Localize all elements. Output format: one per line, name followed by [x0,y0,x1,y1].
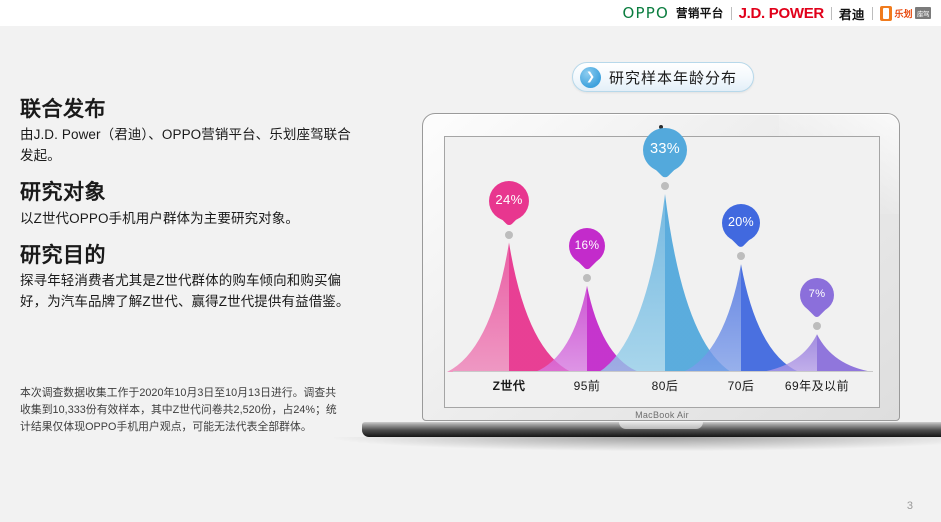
section-body: 探寻年轻消费者尤其是Z世代群体的购车倾向和购买偏好，为汽车品牌了解Z世代、赢得Z… [20,271,360,312]
value-marker-4: 7% [800,278,834,312]
section-research-subject: 研究对象 以Z世代OPPO手机用户群体为主要研究对象。 [20,179,360,229]
value-marker-1: 16% [569,228,605,264]
marker-value: 7% [809,288,826,300]
section-heading-label: 研究样本年龄分布 [609,67,737,88]
jd-power-logo: J.D. POWER [739,6,824,21]
section-body: 由J.D. Power（君迪）、OPPO营销平台、乐划座驾联合发起。 [20,125,360,166]
logo-group: OPPO 营销平台 J.D. POWER 君迪 乐划 座驾 [622,3,931,23]
jundi-label: 君迪 [839,4,865,23]
laptop-screen: Z世代95前80后70后69年及以前 24%16%33%20%7% [444,136,880,408]
laptop-notch [619,422,703,429]
x-axis-label-4: 69年及以前 [762,377,872,394]
page-number: 3 [907,500,913,512]
methodology-footnote: 本次调查数据收集工作于2020年10月3日至10月13日进行。调查共收集到10,… [20,385,342,436]
lezhi-logo: 乐划 座驾 [880,6,931,21]
lezhi-label: 乐划 [894,7,912,20]
marker-bubble: 33% [643,128,687,172]
laptop-shadow [334,437,941,451]
marker-value: 24% [495,192,522,207]
divider-3 [872,7,873,20]
section-title: 研究对象 [20,179,360,206]
marker-anchor-dot [583,274,591,282]
left-text-column: 联合发布 由J.D. Power（君迪）、OPPO营销平台、乐划座驾联合发起。 … [20,96,360,325]
brand-logo-bar: OPPO 营销平台 J.D. POWER 君迪 乐划 座驾 [0,0,941,26]
oppo-logo: OPPO [622,6,669,21]
lezhi-badge: 座驾 [915,7,931,19]
marker-value: 16% [575,238,600,252]
section-body: 以Z世代OPPO手机用户群体为主要研究对象。 [20,209,360,230]
section-title: 研究目的 [20,242,360,269]
value-marker-2: 33% [643,128,687,172]
chevron-right-icon: ❯ [580,67,601,88]
laptop-model-label: MacBook Air [423,410,901,420]
marker-anchor-dot [661,182,669,190]
oppo-marketing-platform-label: 营销平台 [676,5,724,21]
chart-spikes [445,137,881,409]
chart-x-axis: Z世代95前80后70后69年及以前 [445,377,881,399]
value-marker-0: 24% [489,181,529,221]
value-marker-3: 20% [722,204,760,242]
section-title: 联合发布 [20,96,360,123]
section-heading-pill: ❯ 研究样本年龄分布 [572,62,754,92]
chart-baseline [453,371,873,372]
marker-value: 20% [728,215,754,229]
marker-bubble: 24% [489,181,529,221]
age-distribution-chart: Z世代95前80后70后69年及以前 24%16%33%20%7% [445,137,881,409]
laptop-lid: Z世代95前80后70后69年及以前 24%16%33%20%7% MacBoo… [422,113,900,421]
divider-1 [731,7,732,20]
laptop-mockup: Z世代95前80后70后69年及以前 24%16%33%20%7% MacBoo… [422,113,900,453]
lezhi-mark-icon [880,6,892,21]
section-joint-release: 联合发布 由J.D. Power（君迪）、OPPO营销平台、乐划座驾联合发起。 [20,96,360,166]
marker-bubble: 20% [722,204,760,242]
marker-bubble: 7% [800,278,834,312]
marker-anchor-dot [505,231,513,239]
marker-bubble: 16% [569,228,605,264]
divider-2 [831,7,832,20]
section-research-purpose: 研究目的 探寻年轻消费者尤其是Z世代群体的购车倾向和购买偏好，为汽车品牌了解Z世… [20,242,360,312]
marker-value: 33% [650,141,680,157]
